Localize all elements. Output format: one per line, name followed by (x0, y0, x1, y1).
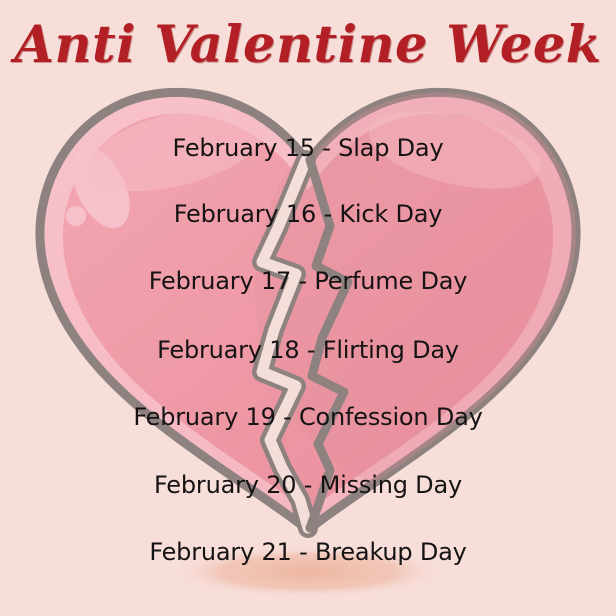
anti-valentine-week-poster: Anti Valentine Week February 15 - Slap D… (0, 0, 616, 616)
heart-highlight-dot (66, 206, 86, 226)
broken-heart-illustration (0, 0, 616, 616)
page-title: Anti Valentine Week (0, 8, 616, 82)
heart-drop-shadow (170, 546, 446, 598)
